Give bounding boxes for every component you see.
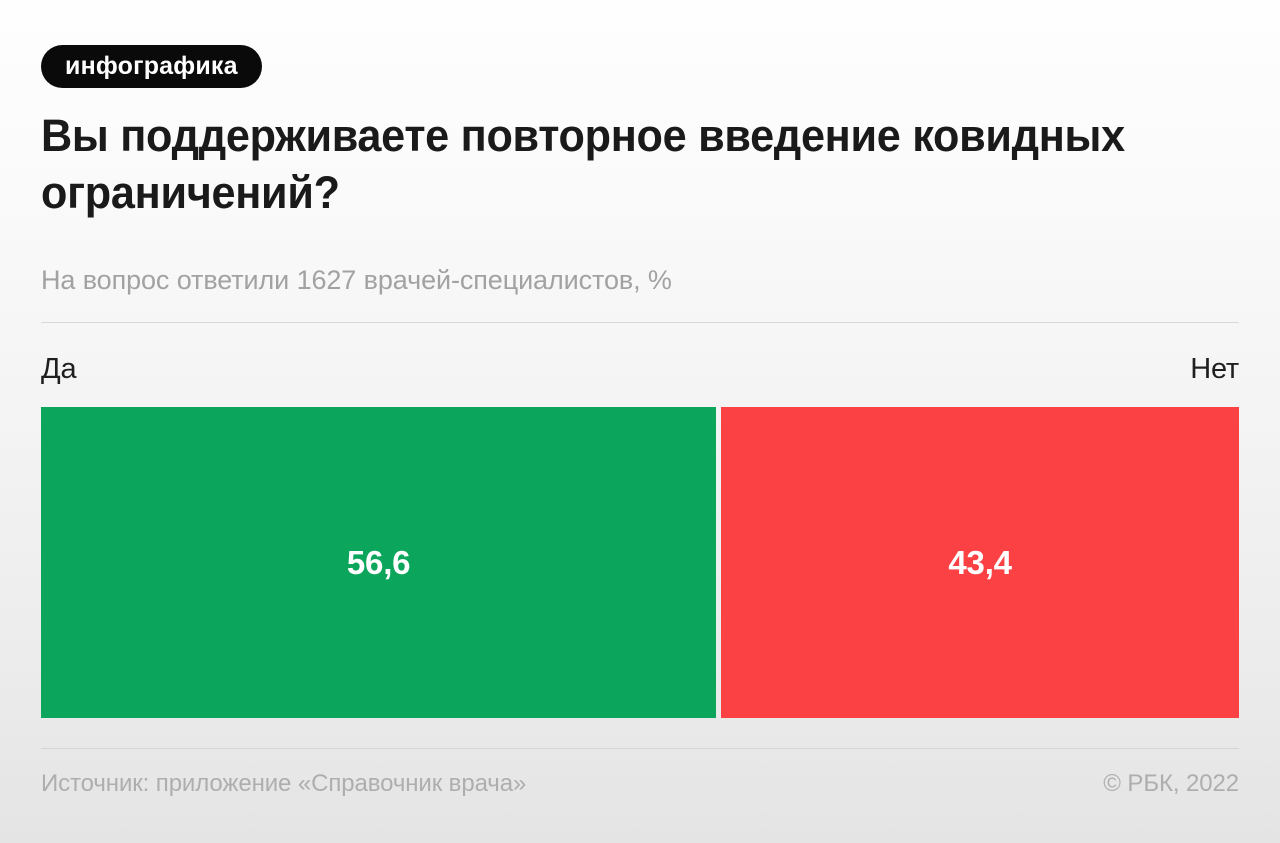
source-text: Источник: приложение «Справочник врача» [41,772,526,796]
bar-value-yes: 56,6 [347,546,410,579]
badge-row: инфографика [41,45,262,88]
category-labels: Да Нет [41,355,1239,384]
infographic-canvas: инфографика Вы поддерживаете повторное в… [0,0,1280,843]
stacked-bar-chart: 56,6 43,4 [41,407,1239,718]
category-label-no: Нет [1190,355,1239,384]
bar-value-no: 43,4 [948,546,1011,579]
copyright-text: © РБК, 2022 [1103,772,1239,796]
divider-bottom [41,748,1239,749]
bar-segment-yes: 56,6 [41,407,716,718]
bar-segment-no: 43,4 [721,407,1239,718]
category-label-yes: Да [41,355,76,384]
infographic-badge: инфографика [41,45,262,88]
page-subtitle: На вопрос ответили 1627 врачей-специалис… [41,264,672,296]
divider-top [41,322,1239,323]
footer: Источник: приложение «Справочник врача» … [41,772,1239,796]
page-title: Вы поддерживаете повторное введение кови… [41,107,1174,221]
